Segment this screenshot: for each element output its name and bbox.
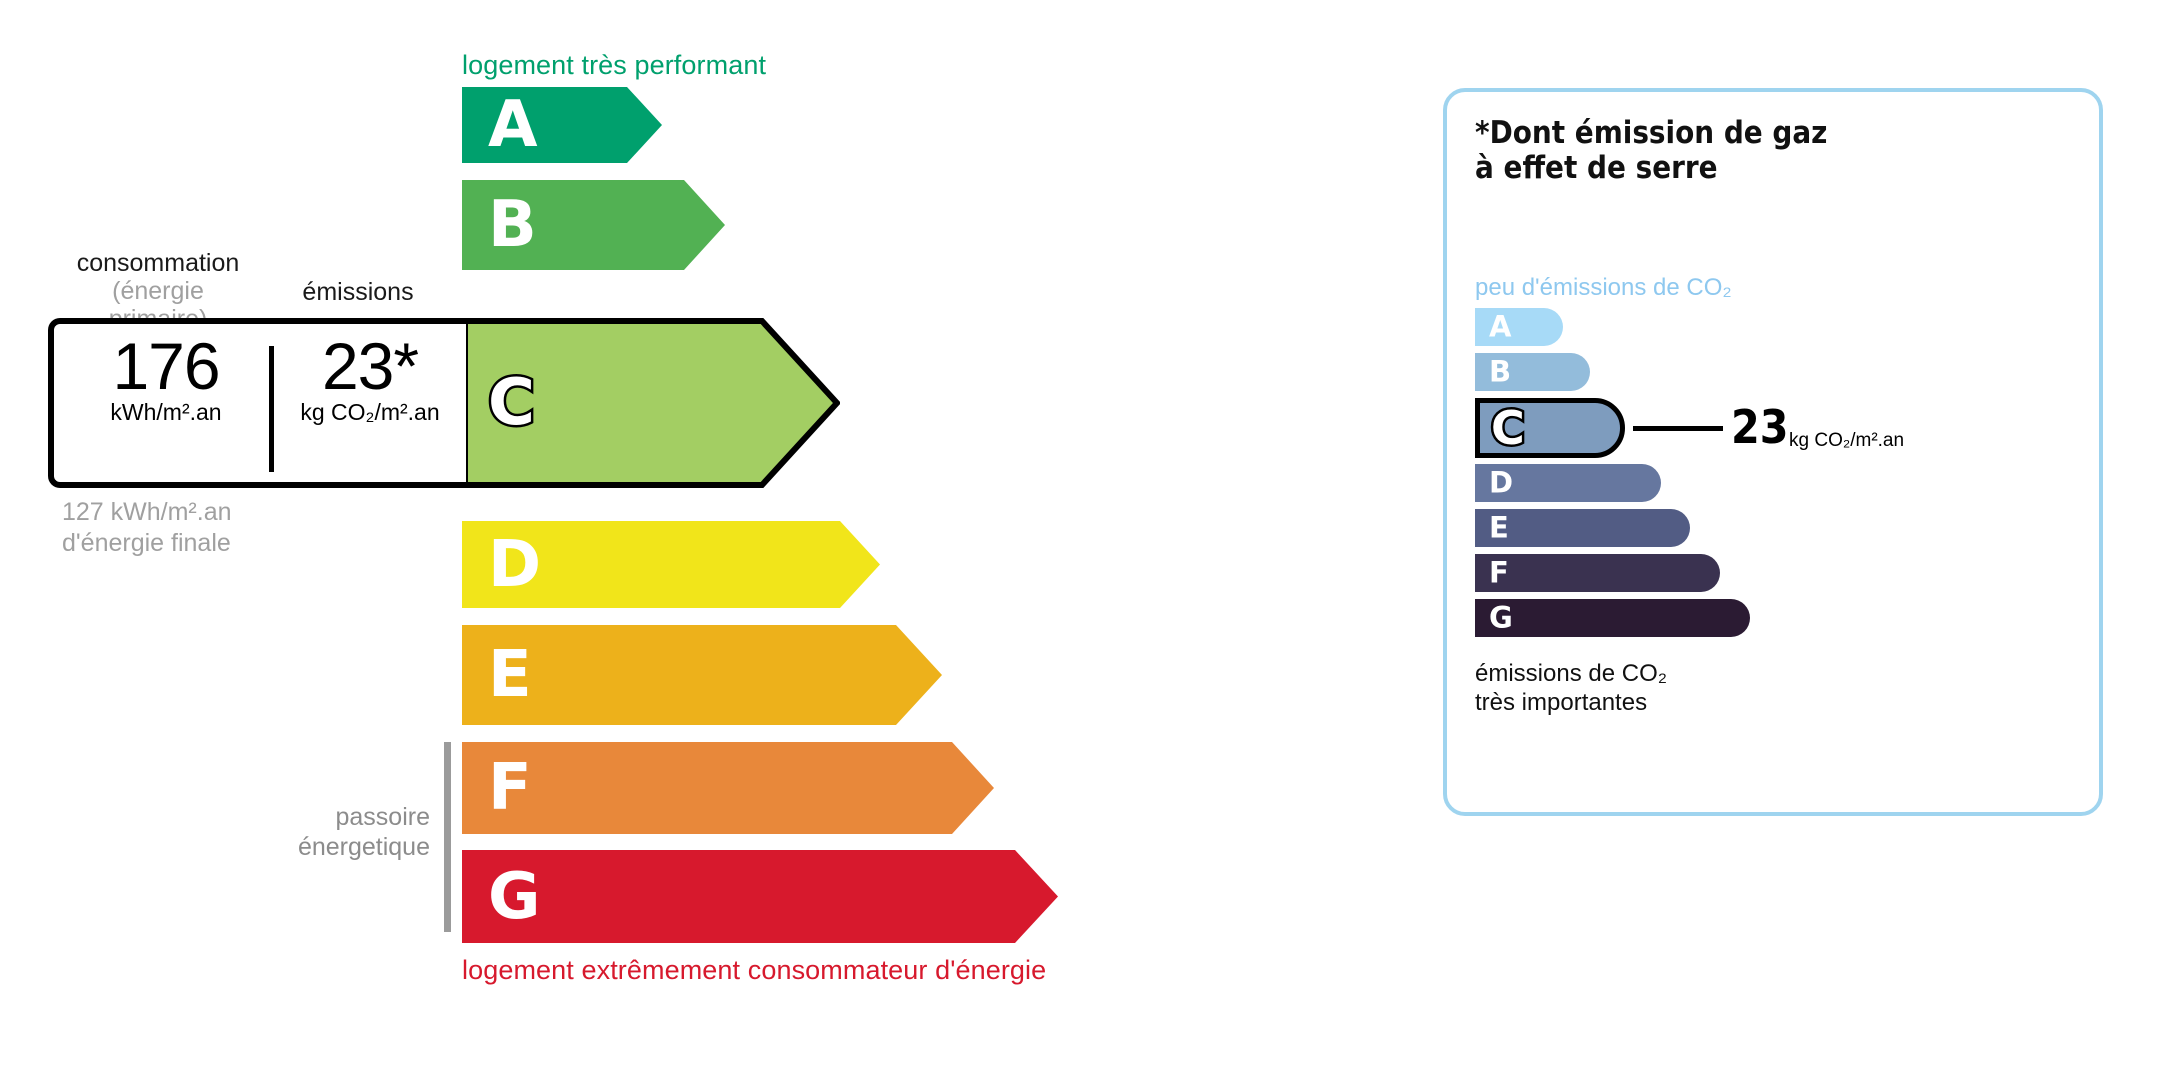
passoire-bracket [444, 742, 451, 932]
ghg-bar-letter-f: F [1489, 559, 1509, 588]
consumption-value: 176 [62, 332, 270, 401]
ghg-bottom-line1: émissions de CO₂ [1475, 660, 1667, 689]
emission-unit: kg CO₂/m².an [276, 399, 464, 426]
ghg-bar-letter-c: C [1491, 405, 1525, 451]
ghg-bar-letter-b: B [1489, 358, 1511, 387]
ghg-title-line2: à effet de serre [1475, 151, 1827, 186]
energy-bottom-caption: logement extrêmement consommateur d'éner… [462, 955, 1046, 986]
emissions-header: émissions [288, 278, 428, 307]
energy-band-c: C [462, 318, 840, 488]
energy-band-f: F [462, 742, 994, 834]
energy-band-letter-d: D [488, 533, 541, 597]
passoire-label: passoire énergetique [230, 802, 430, 862]
ghg-title-line1: *Dont émission de gaz [1475, 116, 1827, 151]
ghg-bottom-line2: très importantes [1475, 689, 1667, 718]
final-energy-value: 127 kWh/m².an [62, 497, 232, 528]
ghg-bar-d: D [1475, 464, 1661, 502]
energy-band-e: E [462, 625, 942, 725]
energy-band-b: B [462, 180, 725, 270]
ghg-bar-e: E [1475, 509, 1690, 547]
energy-band-d: D [462, 521, 880, 608]
emission-value: 23* [276, 332, 464, 401]
ghg-emissions-panel: *Dont émission de gaz à effet de serre p… [1443, 88, 2103, 816]
energy-band-a: A [462, 87, 662, 163]
ghg-bar-c: C [1475, 398, 1625, 458]
ghg-bar-f: F [1475, 554, 1720, 592]
energy-band-shape-e [462, 625, 942, 725]
ghg-bottom-caption: émissions de CO₂ très importantes [1475, 660, 1667, 718]
ghg-value-unit: kg CO₂/m².an [1789, 431, 1904, 450]
ghg-panel-title: *Dont émission de gaz à effet de serre [1475, 116, 1827, 187]
passoire-label-line2: énergetique [230, 832, 430, 862]
ghg-bar-letter-e: E [1489, 514, 1509, 543]
ghg-bar-list: ABCDEFG [1475, 308, 2075, 644]
ghg-bar-letter-g: G [1489, 604, 1513, 633]
measured-values-box: 176 kWh/m².an 23* kg CO₂/m².an [48, 318, 466, 488]
passoire-label-line1: passoire [230, 802, 430, 832]
energy-band-letter-g: G [488, 865, 541, 929]
energy-band-letter-f: F [488, 756, 532, 820]
energy-band-list: ABCDEFG [462, 0, 1222, 1079]
final-energy-label: d'énergie finale [62, 528, 232, 559]
consumption-unit: kWh/m².an [62, 399, 270, 426]
ghg-top-caption: peu d'émissions de CO₂ [1475, 274, 1732, 302]
ghg-bar-letter-d: D [1489, 469, 1513, 498]
ghg-bar-a: A [1475, 308, 1563, 346]
consumption-header-main: consommation [77, 249, 240, 277]
final-energy-note: 127 kWh/m².an d'énergie finale [62, 497, 232, 558]
ghg-bar-letter-a: A [1489, 313, 1511, 342]
energy-band-shape-f [462, 742, 994, 834]
energy-performance-diagram: logement très performant consommation (é… [0, 0, 1400, 1079]
ghg-bar-g: G [1475, 599, 1750, 637]
energy-band-letter-a: A [488, 93, 538, 157]
ghg-leader-line [1633, 426, 1723, 431]
energy-band-letter-b: B [488, 193, 537, 257]
energy-band-shape-g [462, 850, 1058, 943]
ghg-value: 23 [1731, 404, 1789, 450]
energy-band-g: G [462, 850, 1058, 943]
energy-band-letter-c: C [488, 371, 535, 435]
energy-band-letter-e: E [488, 643, 532, 707]
consumption-value-cell: 176 kWh/m².an [62, 332, 270, 426]
ghg-bar-b: B [1475, 353, 1590, 391]
emission-value-cell: 23* kg CO₂/m².an [276, 332, 464, 426]
